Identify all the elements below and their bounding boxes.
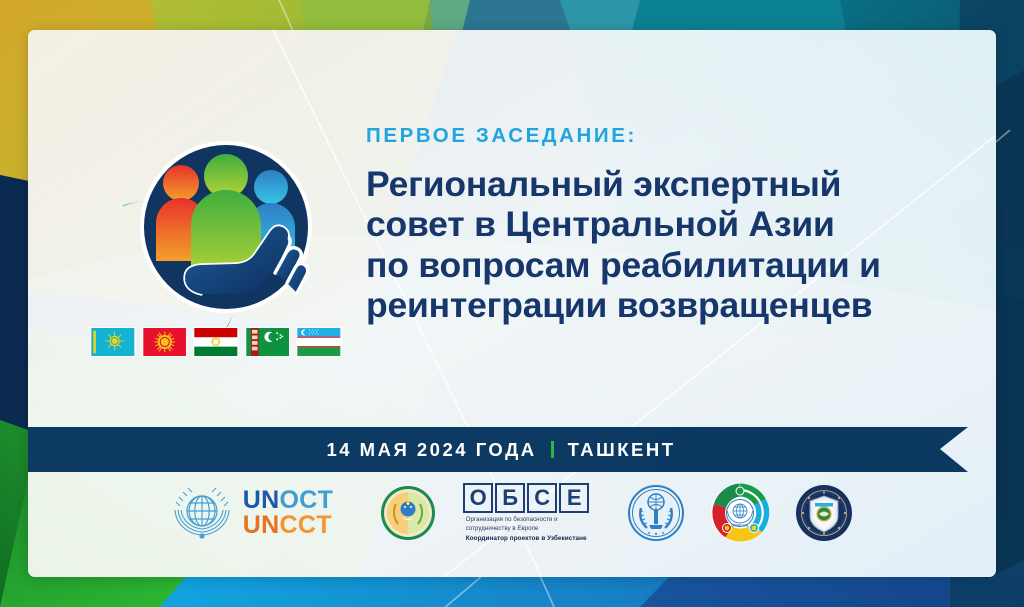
osce-letter-2: Б [495,483,525,513]
hero-text: ПЕРВОЕ ЗАСЕДАНИЕ: Региональный экспертны… [366,126,996,326]
headline: Региональный экспертный совет в Централь… [366,164,996,327]
osce-subtitle-line-2: сотрудничеству в Европе [466,525,587,534]
headline-line-3: по вопросам реабилитации и [366,245,996,286]
ribbon-separator [551,441,554,458]
osce-letter-3: С [527,483,557,513]
uncct-cct: CCT [280,511,332,539]
headline-line-2: совет в Центральной Азии [366,204,996,245]
headline-line-4: реинтеграции возвращенцев [366,285,996,326]
flag-kyrgyzstan [142,327,188,357]
un-preventive-diplomacy-emblem [627,484,685,542]
uncct-un: UN [243,511,280,539]
osce-logo: О Б С Е Организация по безопасности и со… [463,483,589,542]
flag-uzbekistan [296,327,342,357]
flag-kazakhstan [90,327,136,357]
osce-subtitle-line-3: Координатор проектов в Узбекистане [466,534,587,543]
unoct-uncct-logo: UNOCT UNCCT [171,482,333,544]
osce-letter-1: О [463,483,493,513]
osce-subtitle-line-1: Организация по безопасности и [466,516,587,525]
un-emblem-icon [171,482,233,544]
flag-tajikistan [193,327,239,357]
flag-turkmenistan [245,327,291,357]
osce-subtitle: Организация по безопасности и сотрудниче… [466,516,587,542]
unoct-oct: OCT [280,486,334,514]
flags-row [90,325,342,359]
headline-line-1: Региональный экспертный [366,164,996,205]
unrcca-emblem: UNRCCA [709,482,771,544]
osce-letters: О Б С Е [463,483,589,513]
uzbekistan-state-emblem [379,484,437,542]
unrcca-abbr: UNRCCA [732,523,749,528]
rehabilitation-reintegration-emblem [123,131,323,331]
osce-letter-4: Е [559,483,589,513]
unoct-wordmark: UNOCT UNCCT [243,488,333,539]
partner-logos-row: UNOCT UNCCT О Б С Е [28,458,996,568]
uzbekistan-security-service-emblem [795,484,853,542]
unoct-un: UN [243,486,280,514]
eyebrow-label: ПЕРВОЕ ЗАСЕДАНИЕ: [366,126,996,147]
